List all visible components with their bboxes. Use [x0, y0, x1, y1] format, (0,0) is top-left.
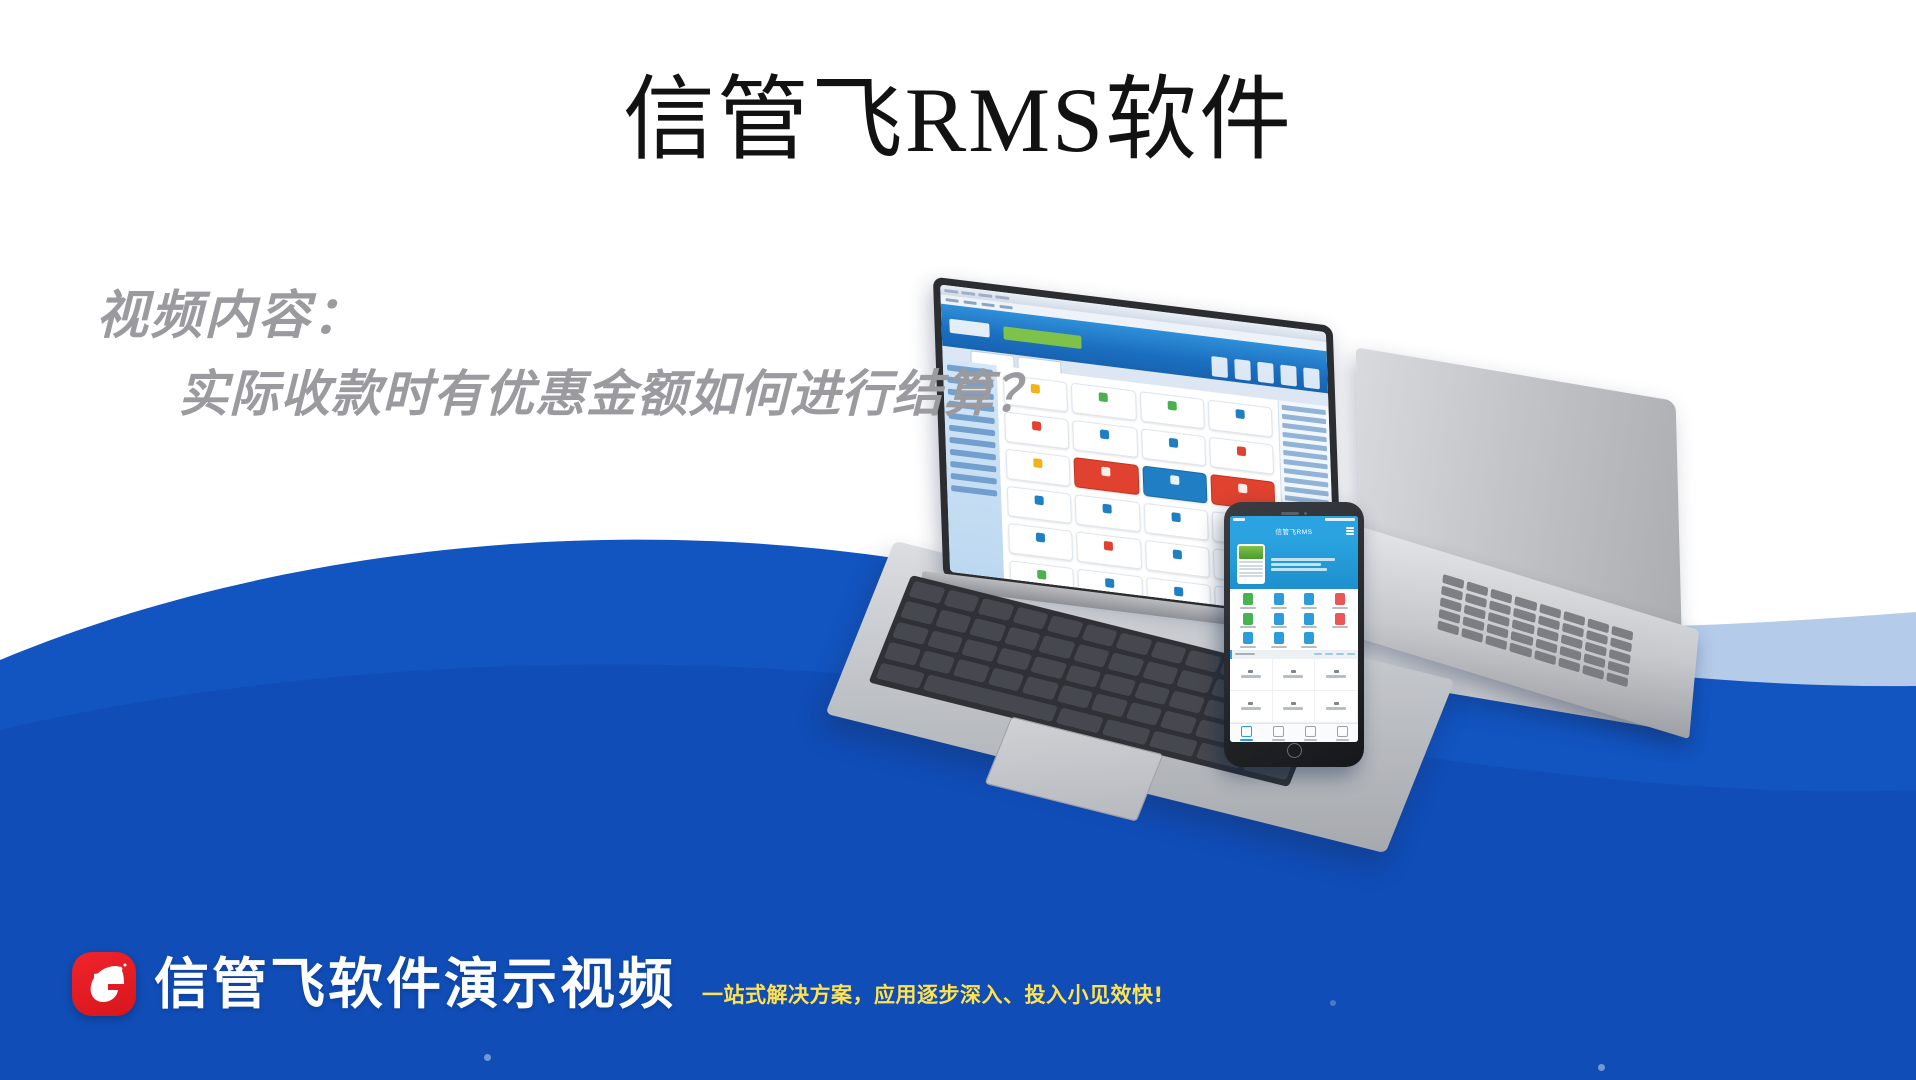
module-icon [1274, 613, 1284, 625]
module-label [1301, 626, 1317, 628]
toolbar-icon[interactable] [1257, 362, 1274, 384]
module-tile[interactable] [1139, 391, 1204, 429]
mobile-tab-bar [1230, 723, 1358, 742]
user-icon [1337, 726, 1348, 737]
mobile-module-item[interactable] [1264, 613, 1294, 629]
sidebar-item[interactable] [950, 449, 996, 461]
sidebar-item[interactable] [949, 425, 995, 437]
brand-bar: 信管飞软件演示视频 一站式解决方案，应用逐步深入、投入小见效快! [72, 952, 1164, 1016]
mobile-module-item[interactable] [1325, 613, 1355, 629]
module-tile[interactable] [1008, 523, 1073, 561]
home-icon [1241, 726, 1252, 737]
module-tile[interactable] [1007, 486, 1072, 524]
brand-name: 信管飞软件演示视频 [154, 957, 676, 1012]
module-icon [1243, 593, 1253, 605]
sidebar-item[interactable] [951, 473, 997, 485]
module-icon [1274, 593, 1284, 605]
stat-cell[interactable] [1273, 659, 1316, 691]
module-tile[interactable] [1143, 503, 1208, 541]
module-tile[interactable] [1209, 437, 1274, 475]
mobile-module-item[interactable] [1233, 632, 1263, 648]
module-label [1332, 626, 1348, 628]
home-circle-icon[interactable] [1230, 742, 1358, 758]
module-icon [1335, 613, 1345, 625]
mobile-module-grid [1230, 589, 1358, 650]
module-label [1271, 607, 1287, 609]
mobile-stats-grid [1230, 659, 1358, 724]
mobile-status-bar [1230, 516, 1358, 523]
module-label [1271, 626, 1287, 628]
module-tile[interactable] [1072, 420, 1137, 458]
sidebar-item[interactable] [951, 485, 997, 497]
toolbar-icon[interactable] [1211, 356, 1228, 378]
mobile-module-item[interactable] [1295, 593, 1325, 609]
toolbar-icon[interactable] [1280, 364, 1297, 386]
video-content-topic: 实际收款时有优惠金额如何进行结算？ [178, 367, 1045, 422]
decor-dot-right [1598, 1064, 1605, 1071]
laptop-front [880, 340, 1520, 900]
hero-caption [1271, 558, 1351, 571]
module-label [1240, 607, 1256, 609]
mobile-section-header [1230, 650, 1358, 659]
mobile-module-item[interactable] [1325, 593, 1355, 609]
stat-cell[interactable] [1230, 659, 1273, 691]
stat-cell[interactable] [1230, 691, 1273, 723]
module-tile[interactable] [1074, 457, 1139, 495]
hamburger-menu-icon[interactable] [1346, 527, 1354, 535]
mobile-module-item[interactable] [1295, 613, 1325, 629]
module-icon [1243, 613, 1253, 625]
tab-profile[interactable] [1326, 726, 1358, 741]
period-tab[interactable] [1325, 653, 1333, 656]
module-label [1301, 646, 1317, 648]
mobile-app-title: 信管飞RMS [1276, 526, 1313, 536]
module-tile[interactable] [1145, 540, 1210, 578]
video-content-block: 视频内容： 实际收款时有优惠金额如何进行结算？ [96, 288, 1045, 422]
period-tab[interactable] [1336, 653, 1344, 656]
module-tile[interactable] [1076, 531, 1141, 569]
xinguanfei-bird-logo-icon [72, 952, 136, 1016]
hero-thumbnail [1239, 546, 1263, 559]
page-title: 信管飞RMS软件 [0, 72, 1916, 170]
mobile-module-item[interactable] [1264, 593, 1294, 609]
module-label [1240, 646, 1256, 648]
module-icon [1335, 593, 1345, 605]
period-tab[interactable] [1347, 653, 1355, 656]
tab-reports[interactable] [1294, 726, 1326, 741]
smartphone-device: 信管飞RMS [1224, 502, 1364, 767]
stat-cell[interactable] [1315, 691, 1358, 723]
mobile-module-item[interactable] [1264, 632, 1294, 648]
toolbar-icon[interactable] [1303, 367, 1320, 389]
sidebar-item[interactable] [950, 461, 996, 473]
module-icon [1304, 613, 1314, 625]
tab-documents[interactable] [1262, 726, 1294, 741]
mobile-app-screen: 信管飞RMS [1230, 516, 1358, 742]
module-label [1240, 626, 1256, 628]
module-tile[interactable] [1142, 465, 1207, 503]
tab-home[interactable] [1230, 726, 1262, 741]
module-tile[interactable] [1006, 449, 1071, 487]
video-content-label: 视频内容： [96, 288, 1045, 345]
stat-cell[interactable] [1315, 659, 1358, 691]
mobile-period-tabs [1314, 653, 1355, 656]
device-mockup-group: 信管飞RMS [880, 380, 1916, 940]
module-tile[interactable] [1141, 428, 1206, 466]
toolbar-icon[interactable] [1234, 359, 1251, 381]
mobile-app-header: 信管飞RMS [1230, 523, 1358, 539]
decor-dot-left [484, 1054, 491, 1061]
hero-phone-illustration [1237, 544, 1265, 584]
module-tile[interactable] [1075, 494, 1140, 532]
module-label [1301, 607, 1317, 609]
documents-icon [1273, 726, 1284, 737]
module-icon [1243, 632, 1253, 644]
mobile-hero-banner [1230, 539, 1358, 589]
sidebar-item[interactable] [949, 437, 995, 449]
slide-canvas: 信管飞RMS软件 视频内容： 实际收款时有优惠金额如何进行结算？ [0, 0, 1916, 1080]
decor-dot-mid [1330, 1000, 1336, 1006]
brand-tagline: 一站式解决方案，应用逐步深入、投入小见效快! [702, 979, 1164, 1016]
module-label [1271, 646, 1287, 648]
period-tab[interactable] [1314, 653, 1322, 656]
hero-thumbnail-lines [1239, 561, 1263, 577]
mobile-module-item[interactable] [1295, 632, 1325, 648]
module-icon [1304, 632, 1314, 644]
module-label [1332, 607, 1348, 609]
module-tile[interactable] [1208, 400, 1273, 438]
stat-cell[interactable] [1273, 691, 1316, 723]
module-tile[interactable] [1071, 383, 1136, 421]
module-icon [1304, 593, 1314, 605]
mobile-module-item[interactable] [1233, 613, 1263, 629]
chart-icon [1305, 726, 1316, 737]
module-icon [1274, 632, 1284, 644]
mobile-module-item[interactable] [1233, 593, 1263, 609]
